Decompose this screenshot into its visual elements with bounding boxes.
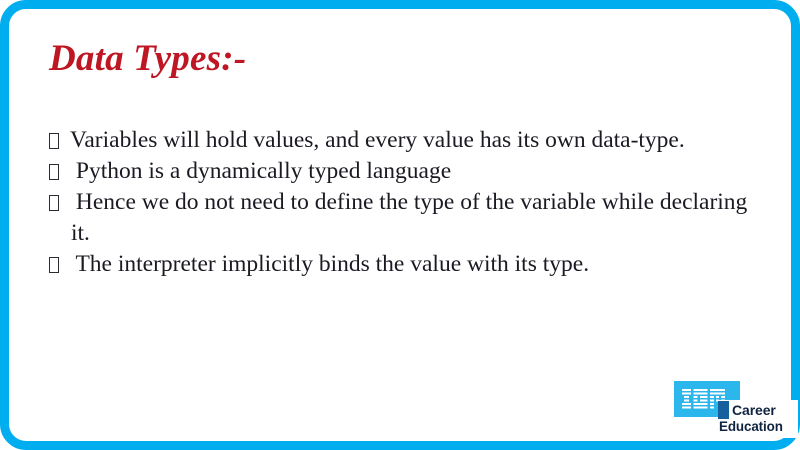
list-item-label: Python is a dynamically typed language [70,158,451,184]
bullet-box-icon [49,195,59,211]
list-item-label: Hence we do not need to define the type … [70,189,753,246]
list-item-label: The interpreter implicitly binds the val… [70,251,589,277]
list-item: Python is a dynamically typed language [49,156,749,187]
career-education-plate: Career Education [718,400,798,438]
slide-content-area: Data Types:- Variables will hold values,… [9,9,791,441]
career-education-line-2: Education [719,419,783,435]
list-item-label: Variables will hold values, and every va… [70,127,685,153]
bullet-box-icon [49,164,59,180]
career-education-accent-square [718,401,729,419]
list-item: Hence we do not need to define the type … [49,187,749,249]
bullet-list: Variables will hold values, and every va… [49,125,749,280]
slide-canvas: Data Types:- Variables will hold values,… [0,0,800,450]
ibm-career-education-logo: Career Education [672,379,798,439]
list-item: The interpreter implicitly binds the val… [49,249,749,280]
career-education-line-1: Career [732,402,776,418]
bullet-box-icon [49,133,59,149]
page-title: Data Types:- [49,38,246,81]
bullet-box-icon [49,257,59,273]
list-item: Variables will hold values, and every va… [49,125,749,156]
